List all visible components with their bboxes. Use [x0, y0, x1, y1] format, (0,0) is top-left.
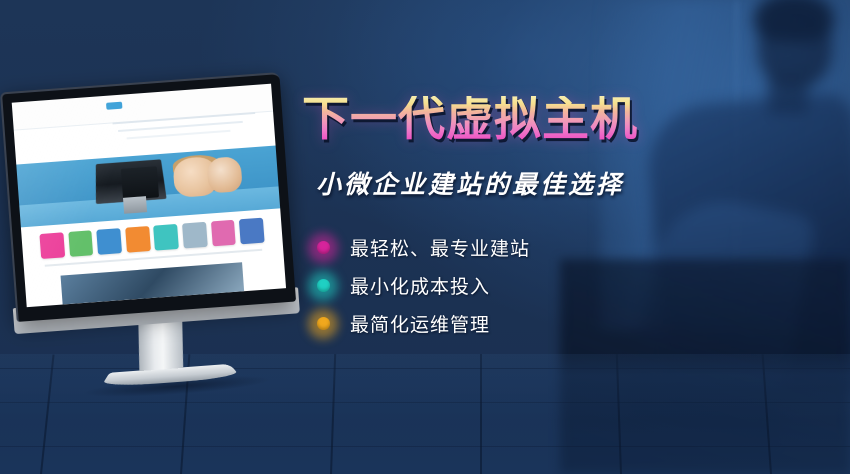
website-app-icon	[211, 220, 236, 246]
list-item: 最简化运维管理	[306, 305, 732, 342]
bullet-dot-teal	[306, 269, 340, 303]
list-item: 最轻松、最专业建站	[306, 229, 732, 266]
floor-line-vertical	[762, 354, 772, 474]
floor-line-vertical	[616, 354, 622, 474]
floor-line-vertical	[480, 354, 482, 474]
website-app-icon	[154, 224, 179, 250]
floor-line-horizontal	[0, 446, 850, 447]
website-hero-device-stand	[123, 196, 148, 214]
floor-line-vertical	[330, 354, 336, 474]
website-hero-device-screen	[121, 166, 160, 199]
website-app-icon	[40, 233, 65, 259]
bullet-dot	[317, 241, 330, 254]
feature-label: 最轻松、最专业建站	[350, 234, 530, 261]
website-footer-image	[61, 263, 245, 305]
floor-line-horizontal	[0, 402, 850, 403]
website-app-icon	[97, 228, 122, 254]
bullet-dot-magenta	[306, 231, 340, 265]
page-subtitle: 小微企业建站的最佳选择	[316, 165, 732, 201]
list-item: 最小化成本投入	[306, 267, 732, 304]
feature-list: 最轻松、最专业建站 最小化成本投入 最简化运维管理	[306, 229, 732, 342]
promo-text-block: 下一代虚拟主机 小微企业建站的最佳选择 最轻松、最专业建站 最小化成本投入	[302, 96, 732, 343]
monitor-bezel	[0, 72, 296, 322]
bullet-dot	[317, 279, 330, 292]
silhouette-hair	[754, 0, 834, 42]
website-app-icon	[68, 230, 93, 256]
website-app-icon	[239, 218, 264, 244]
website-app-icon	[125, 226, 150, 252]
bullet-dot-orange	[306, 307, 340, 341]
floor-line-horizontal	[0, 368, 850, 369]
website-logo	[106, 102, 122, 110]
website-app-icon	[182, 222, 207, 248]
page-title: 下一代虚拟主机	[302, 96, 732, 143]
bullet-dot	[317, 317, 330, 330]
hosting-promo-banner: 下一代虚拟主机 小微企业建站的最佳选择 最轻松、最专业建站 最小化成本投入	[0, 0, 850, 474]
website-nav-line	[126, 130, 230, 140]
floor-line-vertical	[40, 355, 55, 474]
feature-label: 最小化成本投入	[350, 272, 490, 299]
feature-label: 最简化运维管理	[350, 310, 490, 337]
monitor-screen	[12, 84, 286, 307]
website-hero-person	[206, 156, 242, 193]
desktop-monitor	[0, 72, 296, 322]
